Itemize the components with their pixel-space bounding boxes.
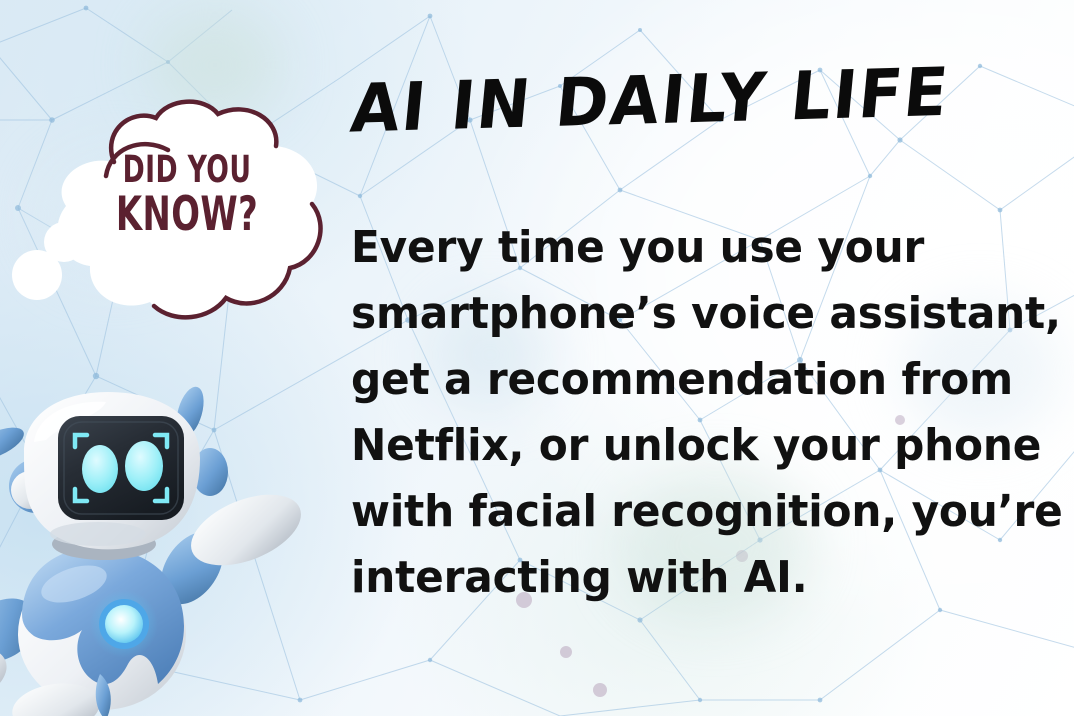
body-line: Netflix, or unlock your phone [351,413,1023,479]
robot-eye-right [125,441,163,491]
did-you-know-bubble: DID YOU KNOW? [44,96,330,328]
body-line: smartphone’s voice assistant, [351,281,1023,347]
body-line: get a recommendation from [351,347,1023,413]
bubble-text: DID YOU KNOW? [44,152,330,238]
body-line: interacting with AI. [351,545,1023,611]
body-paragraph: Every time you use your smartphone’s voi… [351,215,1051,611]
thought-bubble-dot [12,250,62,300]
body-line: Every time you use your [351,215,1023,281]
bubble-line-1: DID YOU [73,152,302,188]
poster-canvas: DID YOU KNOW? AI IN DAILY LIFE Every tim… [0,0,1074,716]
body-line: with facial recognition, you’re [351,479,1023,545]
page-title: AI IN DAILY LIFE [346,56,1047,146]
robot-eye-left [82,445,118,493]
robot-face-screen [58,416,184,520]
bubble-line-2: KNOW? [73,192,302,238]
page-title-text: AI IN DAILY LIFE [347,45,954,157]
robot-mascot [0,378,308,716]
robot-head [24,392,200,549]
